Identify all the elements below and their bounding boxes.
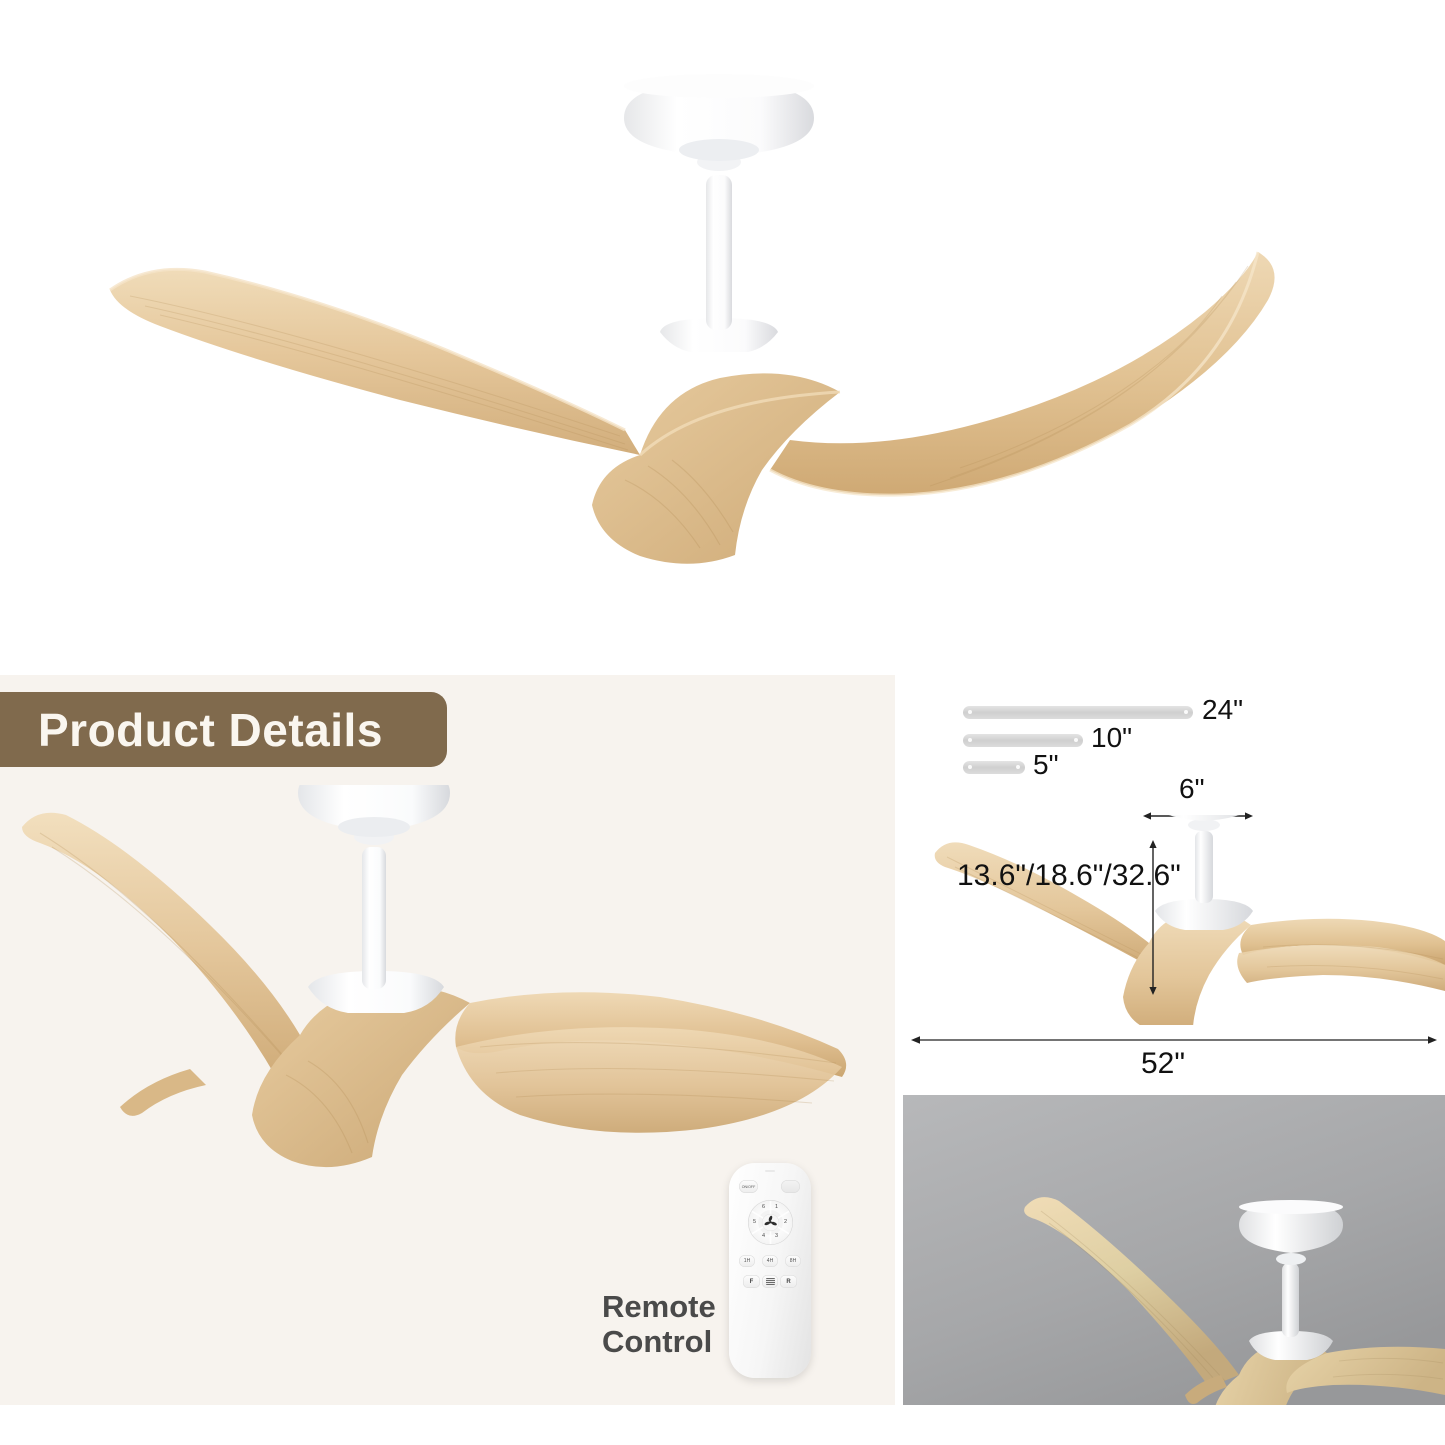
remote-caption-line1: Remote xyxy=(602,1290,716,1325)
dimensions-panel: 24" 10" 5" 6" xyxy=(903,675,1445,1085)
power-button[interactable]: ON/OFF xyxy=(739,1180,758,1193)
timer-4h-label: 4H xyxy=(767,1258,773,1264)
ir-emitter xyxy=(765,1170,775,1172)
remote-control-device: ON/OFF 6 1 5 2 4 3 xyxy=(729,1163,811,1378)
timer-4h-button[interactable]: 4H xyxy=(762,1255,778,1267)
speed-number-5: 5 xyxy=(753,1219,756,1225)
reverse-button[interactable]: R xyxy=(780,1275,797,1288)
height-options-label: 13.6"/18.6"/32.6" xyxy=(957,859,1181,893)
speed-number-3: 3 xyxy=(775,1233,778,1239)
light-icon xyxy=(766,1278,775,1285)
blade-span-arrow xyxy=(911,1033,1437,1047)
speed-number-6: 6 xyxy=(762,1204,765,1210)
forward-button-label: F xyxy=(750,1279,754,1285)
speed-dial[interactable]: 6 1 5 2 4 3 xyxy=(748,1200,793,1245)
forward-button[interactable]: F xyxy=(743,1275,760,1288)
secondary-button[interactable] xyxy=(781,1180,800,1193)
speed-number-2: 2 xyxy=(784,1219,787,1225)
timer-1h-button[interactable]: 1H xyxy=(739,1255,755,1267)
downrod-5in-label: 5" xyxy=(1033,749,1059,781)
hero-product-image xyxy=(0,0,1445,660)
downrod-5in xyxy=(963,761,1025,774)
timer-8h-button[interactable]: 8H xyxy=(785,1255,801,1267)
remote-caption-line2: Control xyxy=(602,1325,716,1360)
timer-1h-label: 1H xyxy=(744,1258,750,1264)
remote-control-caption: Remote Control xyxy=(602,1290,716,1359)
downrod-24in-label: 24" xyxy=(1202,694,1243,726)
timer-8h-label: 8H xyxy=(790,1258,796,1264)
light-button[interactable] xyxy=(762,1275,778,1288)
room-installation-photo xyxy=(903,1095,1445,1405)
downrod-10in-label: 10" xyxy=(1091,722,1132,754)
room-fan-illustration xyxy=(903,1095,1445,1405)
side-view-fan-illustration xyxy=(903,815,1445,1025)
hero-fan-illustration xyxy=(0,0,1445,660)
blade-span-label: 52" xyxy=(1141,1047,1185,1081)
page-title: Product Details xyxy=(38,703,383,757)
speed-number-1: 1 xyxy=(775,1204,778,1210)
downrod-24in xyxy=(963,706,1193,719)
speed-number-4: 4 xyxy=(762,1233,765,1239)
reverse-button-label: R xyxy=(786,1279,790,1285)
downrod-10in xyxy=(963,734,1083,747)
power-button-label: ON/OFF xyxy=(742,1185,756,1189)
canopy-width-label: 6" xyxy=(1179,773,1205,805)
product-details-banner: Product Details xyxy=(0,692,447,767)
